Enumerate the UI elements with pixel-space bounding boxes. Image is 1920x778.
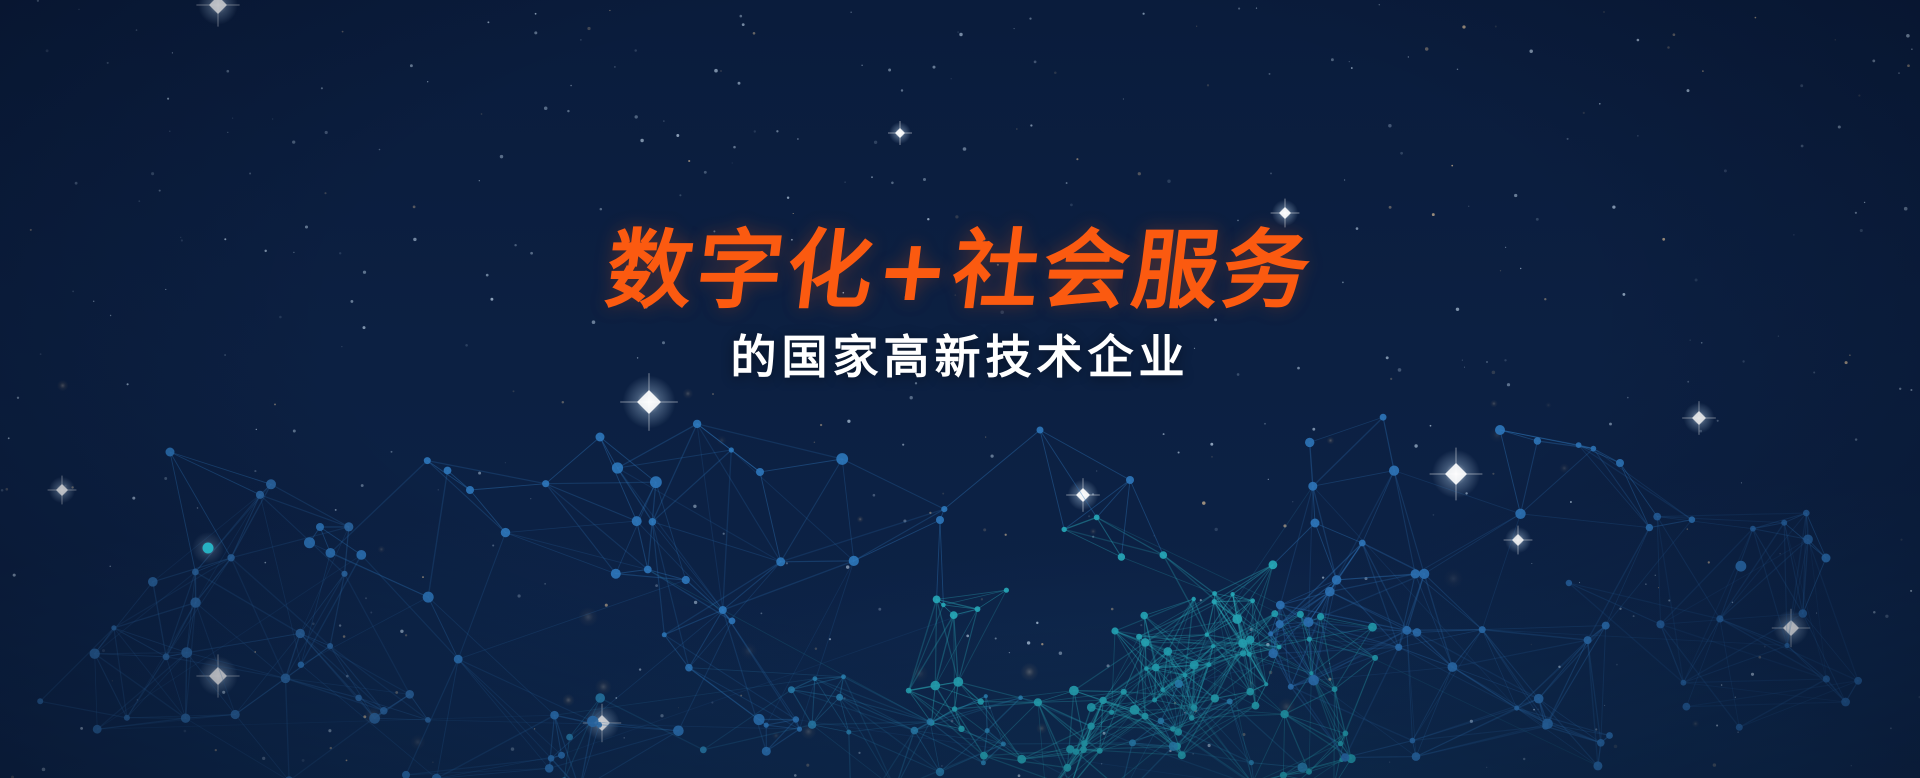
- hero-banner: 数字化+社会服务 的国家高新技术企业: [0, 0, 1920, 778]
- banner-subline: 的国家高新技术企业: [0, 332, 1920, 383]
- network-mesh-layer: [0, 0, 1920, 778]
- banner-headline: 数字化+社会服务: [0, 228, 1920, 314]
- banner-text-block: 数字化+社会服务 的国家高新技术企业: [0, 228, 1920, 383]
